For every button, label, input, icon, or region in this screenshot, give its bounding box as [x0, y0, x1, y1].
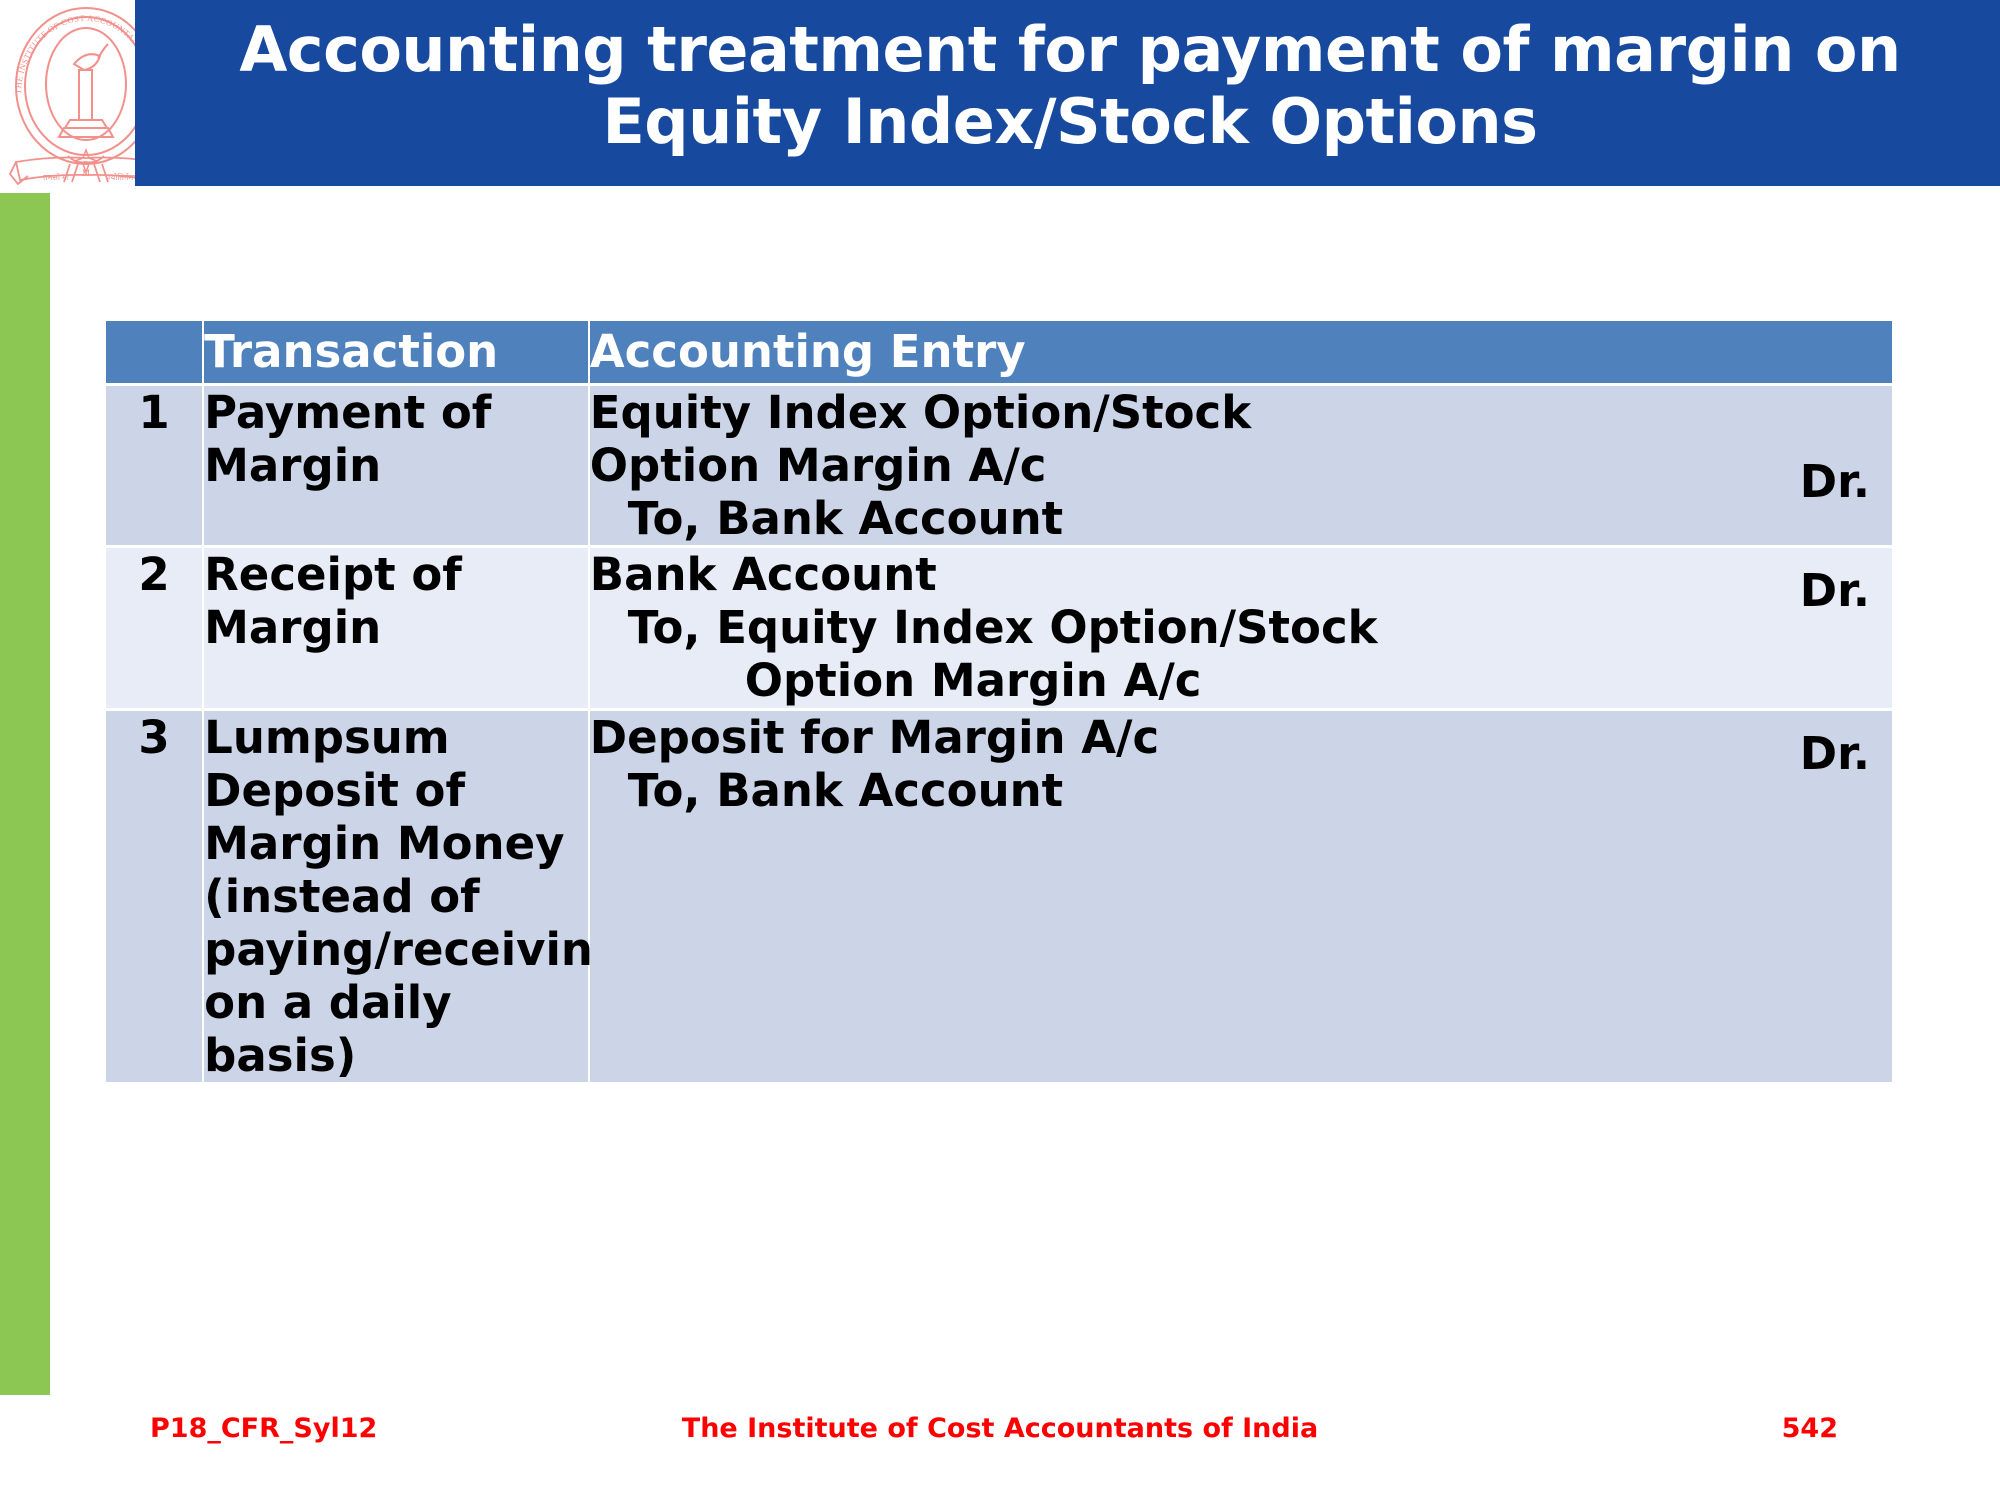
table-body: 1Payment of MarginEquity Index Option/St… — [106, 386, 1892, 1082]
page-title-line-1: Accounting treatment for payment of marg… — [175, 14, 1965, 86]
row-index-cell: 2 — [106, 548, 202, 707]
accounting-entry-cell: Equity Index Option/StockOption Margin A… — [590, 386, 1892, 545]
transaction-cell: Lumpsum Deposit of Margin Money (instead… — [204, 711, 588, 1083]
entry-line: Option Margin A/c — [590, 439, 1892, 492]
transaction-cell: Payment of Margin — [204, 386, 588, 545]
table-row: 1Payment of MarginEquity Index Option/St… — [106, 386, 1892, 545]
entry-line-group: Deposit for Margin A/cTo, Bank Account — [590, 711, 1892, 817]
debit-indicator: Dr. — [1800, 727, 1870, 780]
table-row: 2Receipt of MarginBank AccountTo, Equity… — [106, 548, 1892, 707]
page-title: Accounting treatment for payment of marg… — [175, 14, 1965, 158]
column-header-entry: Accounting Entry — [590, 321, 1892, 383]
entry-line: To, Equity Index Option/Stock — [590, 601, 1892, 654]
entry-line: Deposit for Margin A/c — [590, 711, 1892, 764]
column-header-index — [106, 321, 202, 383]
transaction-cell: Receipt of Margin — [204, 548, 588, 707]
row-index-cell: 1 — [106, 386, 202, 545]
left-accent-bar — [0, 193, 50, 1395]
accounting-entry-cell: Bank AccountTo, Equity Index Option/Stoc… — [590, 548, 1892, 707]
entry-line: Equity Index Option/Stock — [590, 386, 1892, 439]
slide-footer: P18_CFR_Syl12 The Institute of Cost Acco… — [0, 1413, 2000, 1473]
svg-text:तमसो मा: तमसो मा — [43, 172, 70, 182]
entry-line: To, Bank Account — [590, 764, 1892, 817]
svg-text:M: M — [82, 168, 90, 178]
table-row: 3Lumpsum Deposit of Margin Money (instea… — [106, 711, 1892, 1083]
accounting-entry-cell: Deposit for Margin A/cTo, Bank AccountDr… — [590, 711, 1892, 1083]
entry-line-group: Equity Index Option/StockOption Margin A… — [590, 386, 1892, 545]
slide-title-bar: Accounting treatment for payment of marg… — [135, 0, 2000, 186]
entry-line: To, Bank Account — [590, 492, 1892, 545]
column-header-transaction: Transaction — [204, 321, 588, 383]
accounting-entry-table: Transaction Accounting Entry 1Payment of… — [104, 318, 1894, 1085]
entry-line: Bank Account — [590, 548, 1892, 601]
debit-indicator: Dr. — [1800, 455, 1870, 508]
svg-text:ज्योतिर्गमय: ज्योतिर्गमय — [106, 172, 138, 182]
row-index-cell: 3 — [106, 711, 202, 1083]
entry-line: Option Margin A/c — [590, 654, 1892, 707]
page-title-line-2: Equity Index/Stock Options — [175, 86, 1965, 158]
table-header: Transaction Accounting Entry — [106, 321, 1892, 383]
entry-line-group: Bank AccountTo, Equity Index Option/Stoc… — [590, 548, 1892, 707]
debit-indicator: Dr. — [1800, 564, 1870, 617]
table-header-row: Transaction Accounting Entry — [106, 321, 1892, 383]
footer-institute-name: The Institute of Cost Accountants of Ind… — [0, 1413, 2000, 1444]
footer-page-number: 542 — [1782, 1413, 1838, 1444]
